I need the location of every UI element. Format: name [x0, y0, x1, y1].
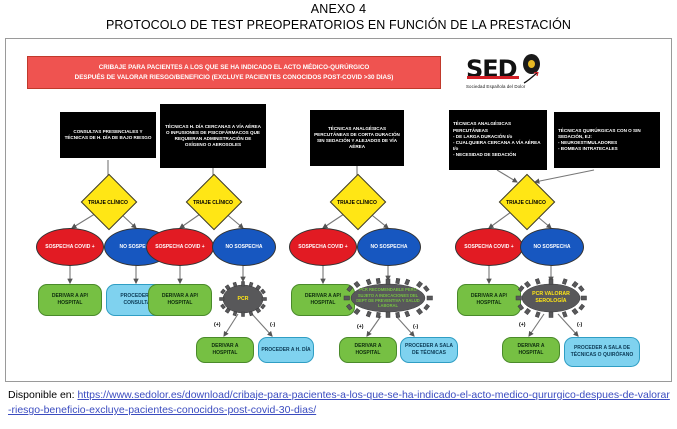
branch-negative-label-col4: (-): [577, 322, 582, 328]
action-suspect-col1: DERIVAR A AP/ HOSPITAL: [38, 284, 102, 316]
triage-diamond-col4: TRIAJE CLÍNICO: [498, 182, 554, 224]
test-node-col2: PCR: [218, 281, 268, 317]
page-title: ANEXO 4 PROTOCOLO DE TEST PREOPERATORIOS…: [0, 2, 677, 32]
triage-label-col2: TRIAJE CLÍNICO: [185, 200, 241, 207]
suspect-node-col1: SOSPECHA COVID +: [36, 228, 104, 266]
triage-label-col4: TRIAJE CLÍNICO: [498, 200, 554, 207]
suspect-node-col2: SOSPECHA COVID +: [146, 228, 214, 266]
branch-positive-label-col3: (+): [357, 324, 363, 330]
action-test-positive-col3: DERIVAR A HOSPITAL: [339, 337, 397, 363]
title-line-1: ANEXO 4: [0, 2, 677, 16]
screening-banner: CRIBAJE PARA PACIENTES A LOS QUE SE HA I…: [27, 56, 441, 89]
sed-swoosh-icon: [523, 72, 539, 84]
triage-diamond-col3: TRIAJE CLÍNICO: [329, 182, 385, 224]
sed-logo: SED Sociedad Española del Dolor: [466, 53, 562, 93]
title-line-2: PROTOCOLO DE TEST PREOPERATORIOS EN FUNC…: [0, 18, 677, 32]
branch-negative-label-col3: (-): [413, 324, 418, 330]
suspect-node-col3: SOSPECHA COVID +: [289, 228, 357, 266]
test-label-col3: PCR RECOMENDABLE PERO SUJETO A INDICACIO…: [343, 278, 433, 318]
action-test-negative-col2: PROCEDER A H. DÍA: [258, 337, 314, 363]
action-test-positive-col4: DERIVAR A HOSPITAL: [502, 337, 560, 363]
branch-negative-label-col2: (-): [270, 322, 275, 328]
test-node-col3: PCR RECOMENDABLE PERO SUJETO A INDICACIO…: [343, 278, 433, 318]
source-line: Disponible en: https://www.sedolor.es/do…: [8, 388, 670, 418]
banner-line-2: DESPUÉS DE VALORAR RIESGO/BENEFICIO (EXC…: [75, 73, 394, 82]
procedure-box-col3: TÉCNICAS ANALGÉSICAS PERCUTÁNEAS DE CORT…: [310, 110, 404, 166]
test-label-col2: PCR: [218, 281, 268, 317]
branch-positive-label-col4: (+): [519, 322, 525, 328]
triage-label-col3: TRIAJE CLÍNICO: [329, 200, 385, 207]
procedure-box-col4: TÉCNICAS ANALGÉSICAS PERCUTÁNEAS - DE LA…: [449, 110, 547, 170]
procedure-box-col2: TÉCNICAS H. DÍA CERCANAS A VÍA AÉREA O I…: [160, 104, 266, 168]
sed-subtitle: Sociedad Española del Dolor: [466, 84, 525, 89]
sed-inner-dot-icon: [528, 60, 535, 68]
action-suspect-col2: DERIVAR A AP/ HOSPITAL: [148, 284, 212, 316]
triage-label-col1: TRIAJE CLÍNICO: [80, 200, 136, 207]
procedure-box-col4-extra: TÉCNICAS QUIRÚRGICAS CON O SIN SEDACIÓN,…: [554, 112, 660, 168]
action-test-positive-col2: DERIVAR A HOSPITAL: [196, 337, 254, 363]
no-suspect-node-col2: NO SOSPECHA: [212, 228, 276, 266]
diagram-page: ANEXO 4 PROTOCOLO DE TEST PREOPERATORIOS…: [0, 0, 677, 429]
test-label-col4: PCR VALORAR SEROLOGÍA: [515, 278, 587, 318]
action-test-negative-col3: PROCEDER A SALA DE TÉCNICAS: [400, 337, 458, 363]
procedure-box-col1: CONSULTAS PRESENCIALES Y TÉCNICAS DE H. …: [60, 112, 156, 158]
branch-positive-label-col2: (+): [214, 322, 220, 328]
source-label: Disponible en:: [8, 389, 75, 401]
banner-line-1: CRIBAJE PARA PACIENTES A LOS QUE SE HA I…: [75, 63, 394, 72]
test-node-col4: PCR VALORAR SEROLOGÍA: [515, 278, 587, 318]
triage-diamond-col1: TRIAJE CLÍNICO: [80, 182, 136, 224]
no-suspect-node-col4: NO SOSPECHA: [520, 228, 584, 266]
source-url-link[interactable]: https://www.sedolor.es/download/cribaje-…: [8, 389, 670, 416]
action-test-negative-col4: PROCEDER A SALA DE TÉCNICAS O QUIRÓFANO: [564, 337, 640, 367]
no-suspect-node-col3: NO SOSPECHA: [357, 228, 421, 266]
triage-diamond-col2: TRIAJE CLÍNICO: [185, 182, 241, 224]
action-suspect-col4: DERIVAR A AP/ HOSPITAL: [457, 284, 521, 316]
suspect-node-col4: SOSPECHA COVID +: [455, 228, 523, 266]
sed-red-bar: [467, 76, 519, 79]
